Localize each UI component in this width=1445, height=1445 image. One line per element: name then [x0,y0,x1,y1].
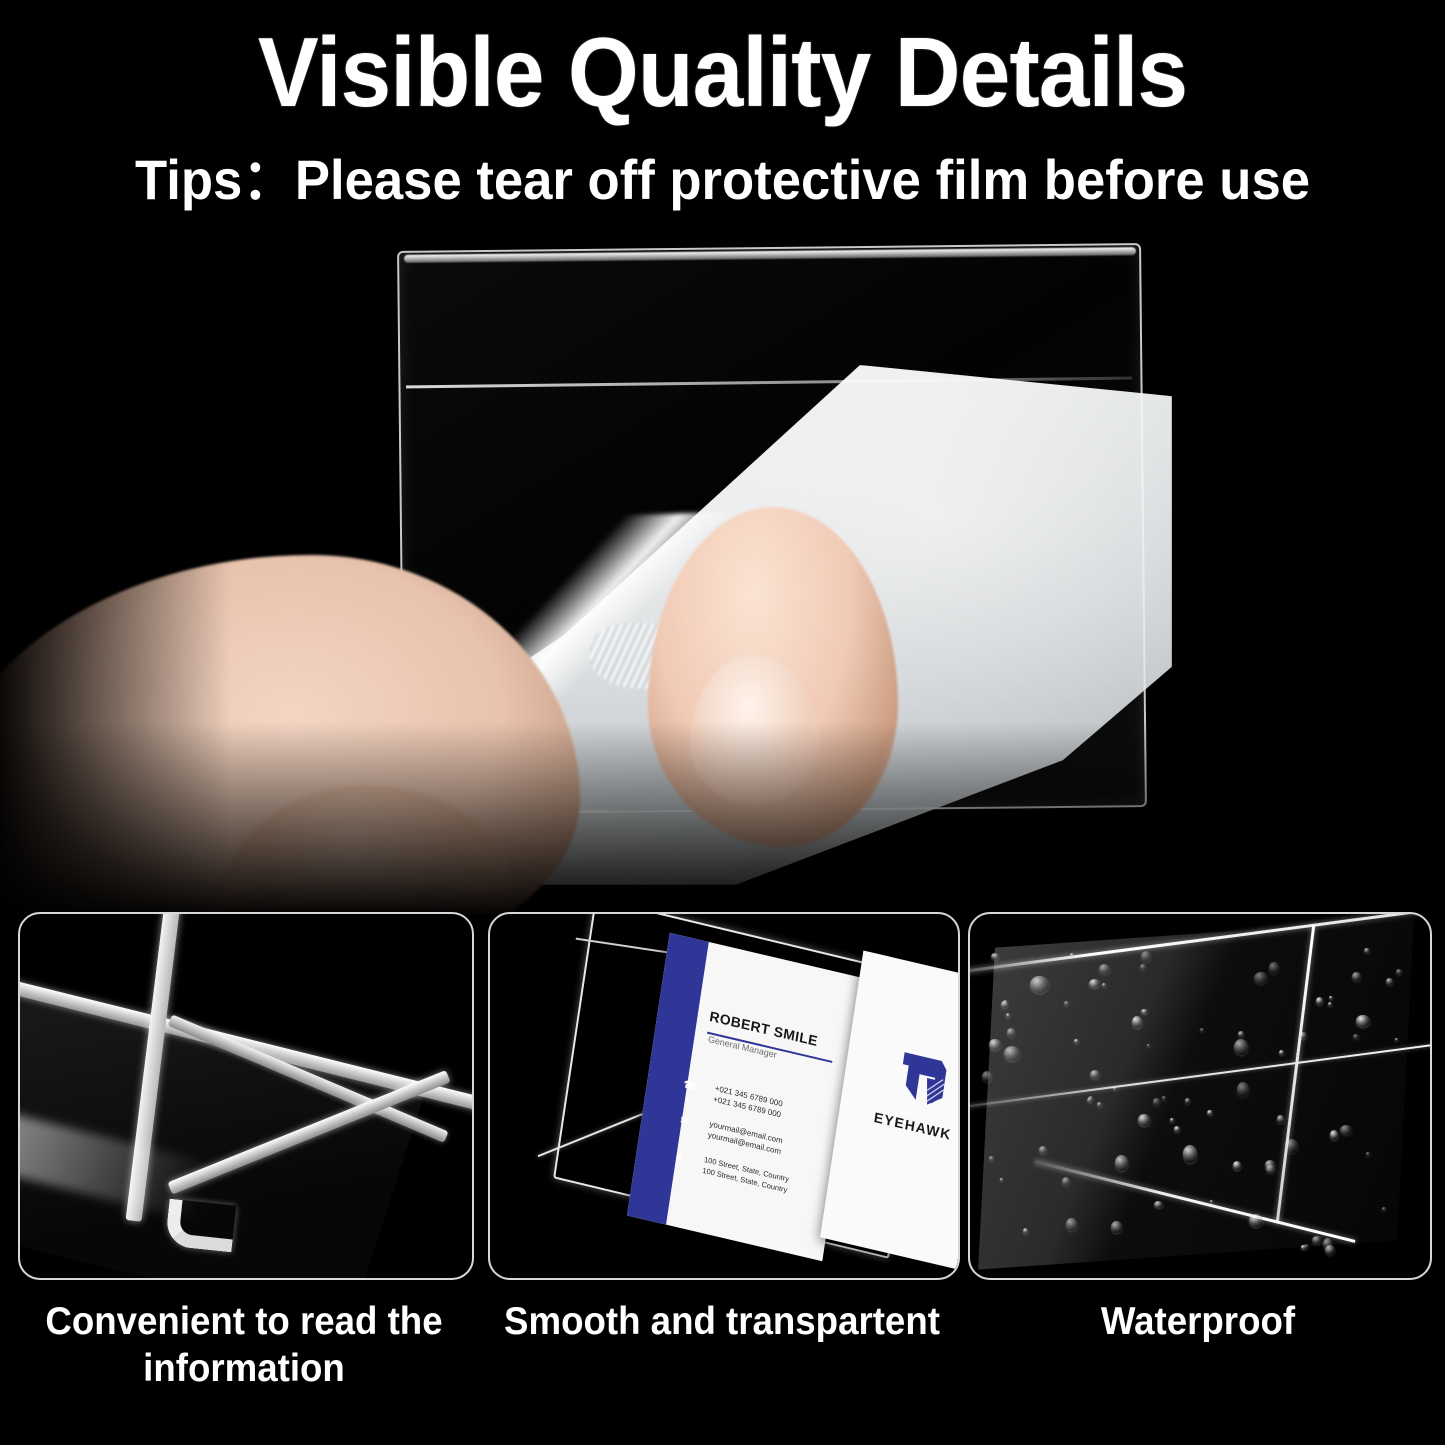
acrylic-sheet-icon [978,918,1414,1269]
card-email-block: ✉ yourmail@email.com yourmail@email.com [707,1118,783,1157]
product-detail-image: Visible Quality Details Tips：Please tear… [0,0,1445,1445]
card-address-block: ● 100 Street, State, Country 100 Street,… [702,1154,790,1196]
tips-line: Tips：Please tear off protective film bef… [43,148,1401,212]
caption-smooth-and-transparent: Smooth and transpartent [502,1298,942,1345]
panel-convenient-to-read [18,912,474,1280]
caption-waterproof: Waterproof [982,1298,1414,1345]
card-phone-block: ☎ +021 345 6789 000 +021 345 6789 000 [713,1083,784,1121]
phone-icon: ☎ [680,1075,700,1097]
panel-smooth-and-transparent: ROBERT SMILE General Manager ☎ +021 345 … [488,912,960,1280]
caption-convenient-to-read: Convenient to read theinformation [32,1298,457,1392]
panel-waterproof [968,912,1432,1280]
page-title: Visible Quality Details [51,20,1395,124]
feature-panels: ROBERT SMILE General Manager ☎ +021 345 … [0,912,1445,1278]
eyehawk-logo-icon [893,1045,952,1114]
location-pin-icon: ● [669,1146,689,1168]
panel-captions: Convenient to read theinformation Smooth… [0,1298,1445,1418]
card-role: General Manager [708,1034,778,1060]
envelope-icon: ✉ [675,1111,695,1133]
hero-photo [0,225,1445,915]
